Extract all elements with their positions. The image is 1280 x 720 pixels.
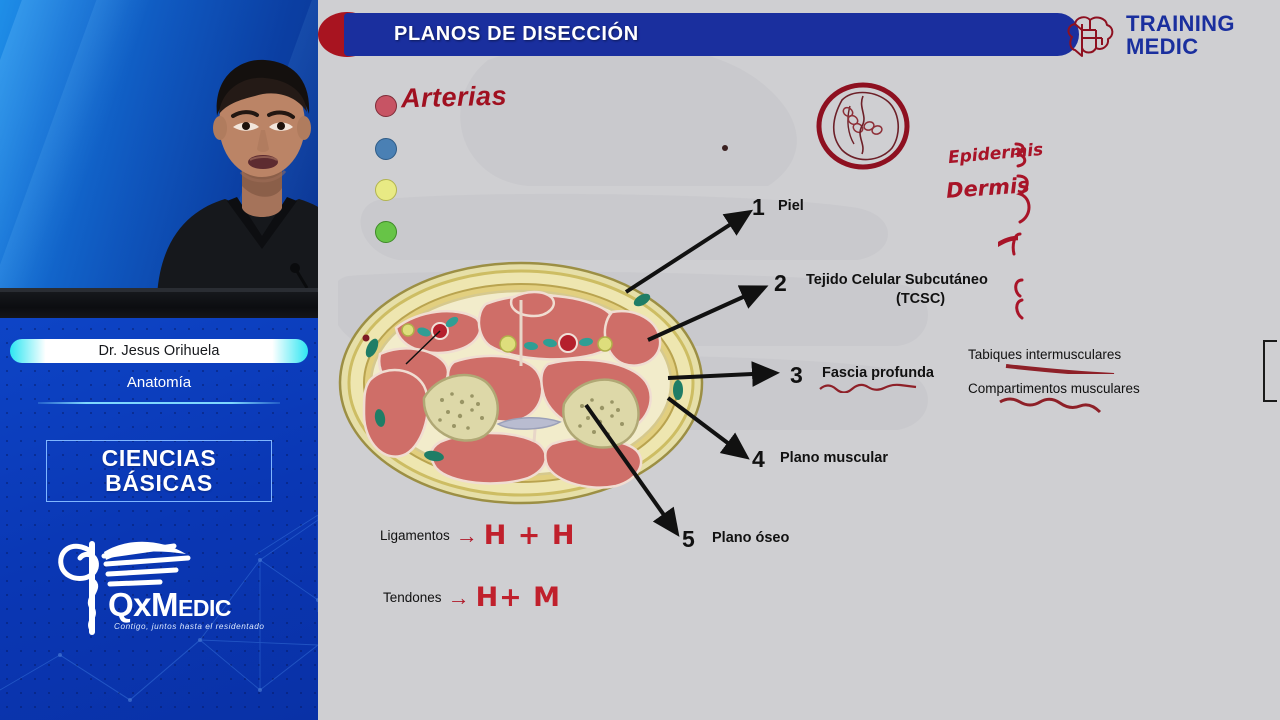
legend-small-dot xyxy=(722,145,728,151)
callout-number-5: 5 xyxy=(682,526,695,553)
callout-number-4: 4 xyxy=(752,446,765,473)
laptop-base xyxy=(0,292,318,318)
brand-qx: Qx xyxy=(108,586,151,623)
sidebar-divider xyxy=(38,402,280,404)
fascia-bracket xyxy=(1263,340,1277,402)
fascia-branch-2: Compartimentos musculares xyxy=(968,381,1140,396)
presenter-name-badge: Dr. Jesus Orihuela xyxy=(10,339,308,363)
slide-title: PLANOS DE DISECCIÓN xyxy=(394,23,639,46)
legend-dot-green xyxy=(375,221,397,243)
logo-line-2: MEDIC xyxy=(1126,36,1235,59)
callout-text-4: Plano muscular xyxy=(780,450,888,466)
fascia-branch-1: Tabiques intermusculares xyxy=(968,347,1121,362)
brand-edic: EDIC xyxy=(178,595,231,621)
logo-line-1: TRAINING xyxy=(1126,13,1235,36)
legend-dot-arterias xyxy=(375,95,397,117)
slide-title-bar: PLANOS DE DISECCIÓN xyxy=(344,13,1079,56)
course-line-1: CIENCIAS xyxy=(102,446,217,471)
presenter-video xyxy=(0,0,318,318)
training-medic-text: TRAINING MEDIC xyxy=(1126,13,1235,58)
formula-label-2: Tendones xyxy=(383,590,442,605)
fascia-underline xyxy=(818,379,936,393)
qxmedic-wordmark: QxMEDIC xyxy=(108,586,231,624)
branch-2-underline xyxy=(998,396,1128,414)
callout-text-2b: (TCSC) xyxy=(896,291,945,307)
subject-label: Anatomía xyxy=(0,374,318,391)
presenter-name: Dr. Jesus Orihuela xyxy=(98,343,219,359)
presenter-figure xyxy=(147,36,318,296)
formula-value-2: H+ M xyxy=(476,582,562,613)
course-badge: CIENCIAS BÁSICAS xyxy=(46,440,272,502)
course-line-2: BÁSICAS xyxy=(105,471,213,496)
presenter-sidebar: Dr. Jesus Orihuela Anatomía CIENCIAS BÁS… xyxy=(0,0,318,720)
brand-m: M xyxy=(151,586,178,623)
legend-label-arterias: Arterias xyxy=(401,81,508,115)
formula-tendones: Tendones → H+ M xyxy=(383,582,561,613)
hand-drawn-cell-inset xyxy=(808,76,918,176)
legend-dot-blue xyxy=(375,138,397,160)
legend-dot-yellow xyxy=(375,179,397,201)
formula-arrow-2: → xyxy=(448,587,470,609)
branch-1-underline xyxy=(1004,362,1124,374)
formula-ligamentos: Ligamentos → H + H xyxy=(380,520,575,551)
formula-label-1: Ligamentos xyxy=(380,528,450,543)
training-medic-logo: TRAINING MEDIC xyxy=(1062,4,1272,68)
callout-text-2: Tejido Celular Subcutáneo xyxy=(806,272,988,288)
limb-cross-section-diagram xyxy=(336,258,706,508)
callout-text-1: Piel xyxy=(778,198,804,214)
formula-arrow-1: → xyxy=(456,525,478,547)
slide-area: PLANOS DE DISECCIÓN TRAINING MEDIC xyxy=(318,0,1280,720)
screen-root: Dr. Jesus Orihuela Anatomía CIENCIAS BÁS… xyxy=(0,0,1280,720)
handwritten-braces xyxy=(998,130,1058,330)
brand-tagline: Contigo, juntos hasta el residentado xyxy=(114,622,264,631)
callout-text-5: Plano óseo xyxy=(712,530,789,546)
callout-number-3: 3 xyxy=(790,362,803,389)
brain-icon xyxy=(1062,11,1118,61)
formula-value-1: H + H xyxy=(484,520,576,551)
qxmedic-logo: QxMEDIC Contigo, juntos hasta el residen… xyxy=(48,528,288,638)
callout-number-2: 2 xyxy=(774,270,787,297)
callout-number-1: 1 xyxy=(752,194,765,221)
